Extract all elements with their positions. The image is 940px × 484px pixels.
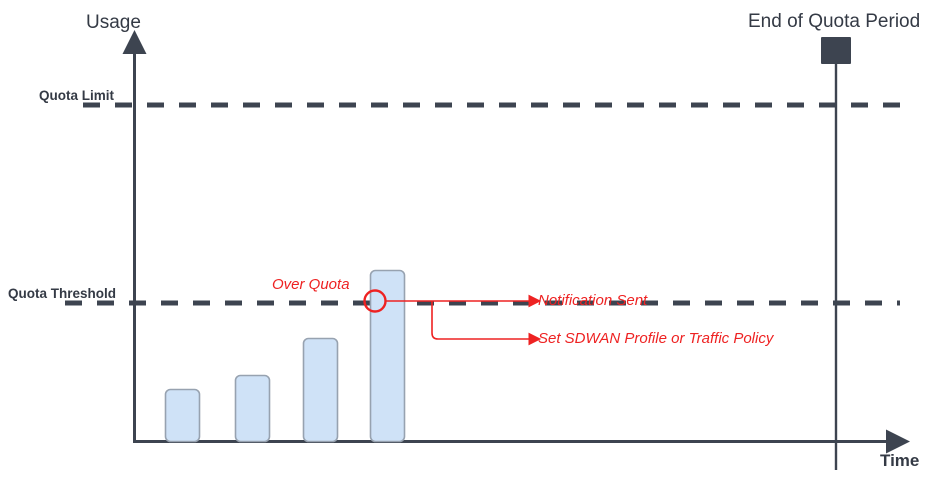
quota-limit-label: Quota Limit — [39, 89, 114, 103]
callout-notification-sent-label: Notification Sent — [538, 293, 647, 308]
usage-bar-1 — [166, 390, 200, 442]
diagram-vector-layer — [0, 0, 940, 484]
usage-bar-4 — [371, 271, 405, 442]
callout-set-sdwan-profile-label: Set SDWAN Profile or Traffic Policy — [538, 331, 773, 346]
quota-threshold-label: Quota Threshold — [8, 287, 116, 301]
x-axis-label: Time — [880, 452, 919, 469]
end-of-quota-period-label: End of Quota Period — [748, 12, 920, 31]
callout-connector-sdwan — [432, 301, 530, 339]
diagram-canvas: Usage Time Quota Limit Quota Threshold E… — [0, 0, 940, 484]
over-quota-label: Over Quota — [272, 277, 350, 292]
usage-bar-3 — [304, 339, 338, 442]
end-of-quota-period-square-icon — [821, 37, 851, 64]
y-axis-label: Usage — [86, 13, 141, 32]
usage-bar-2 — [236, 376, 270, 442]
